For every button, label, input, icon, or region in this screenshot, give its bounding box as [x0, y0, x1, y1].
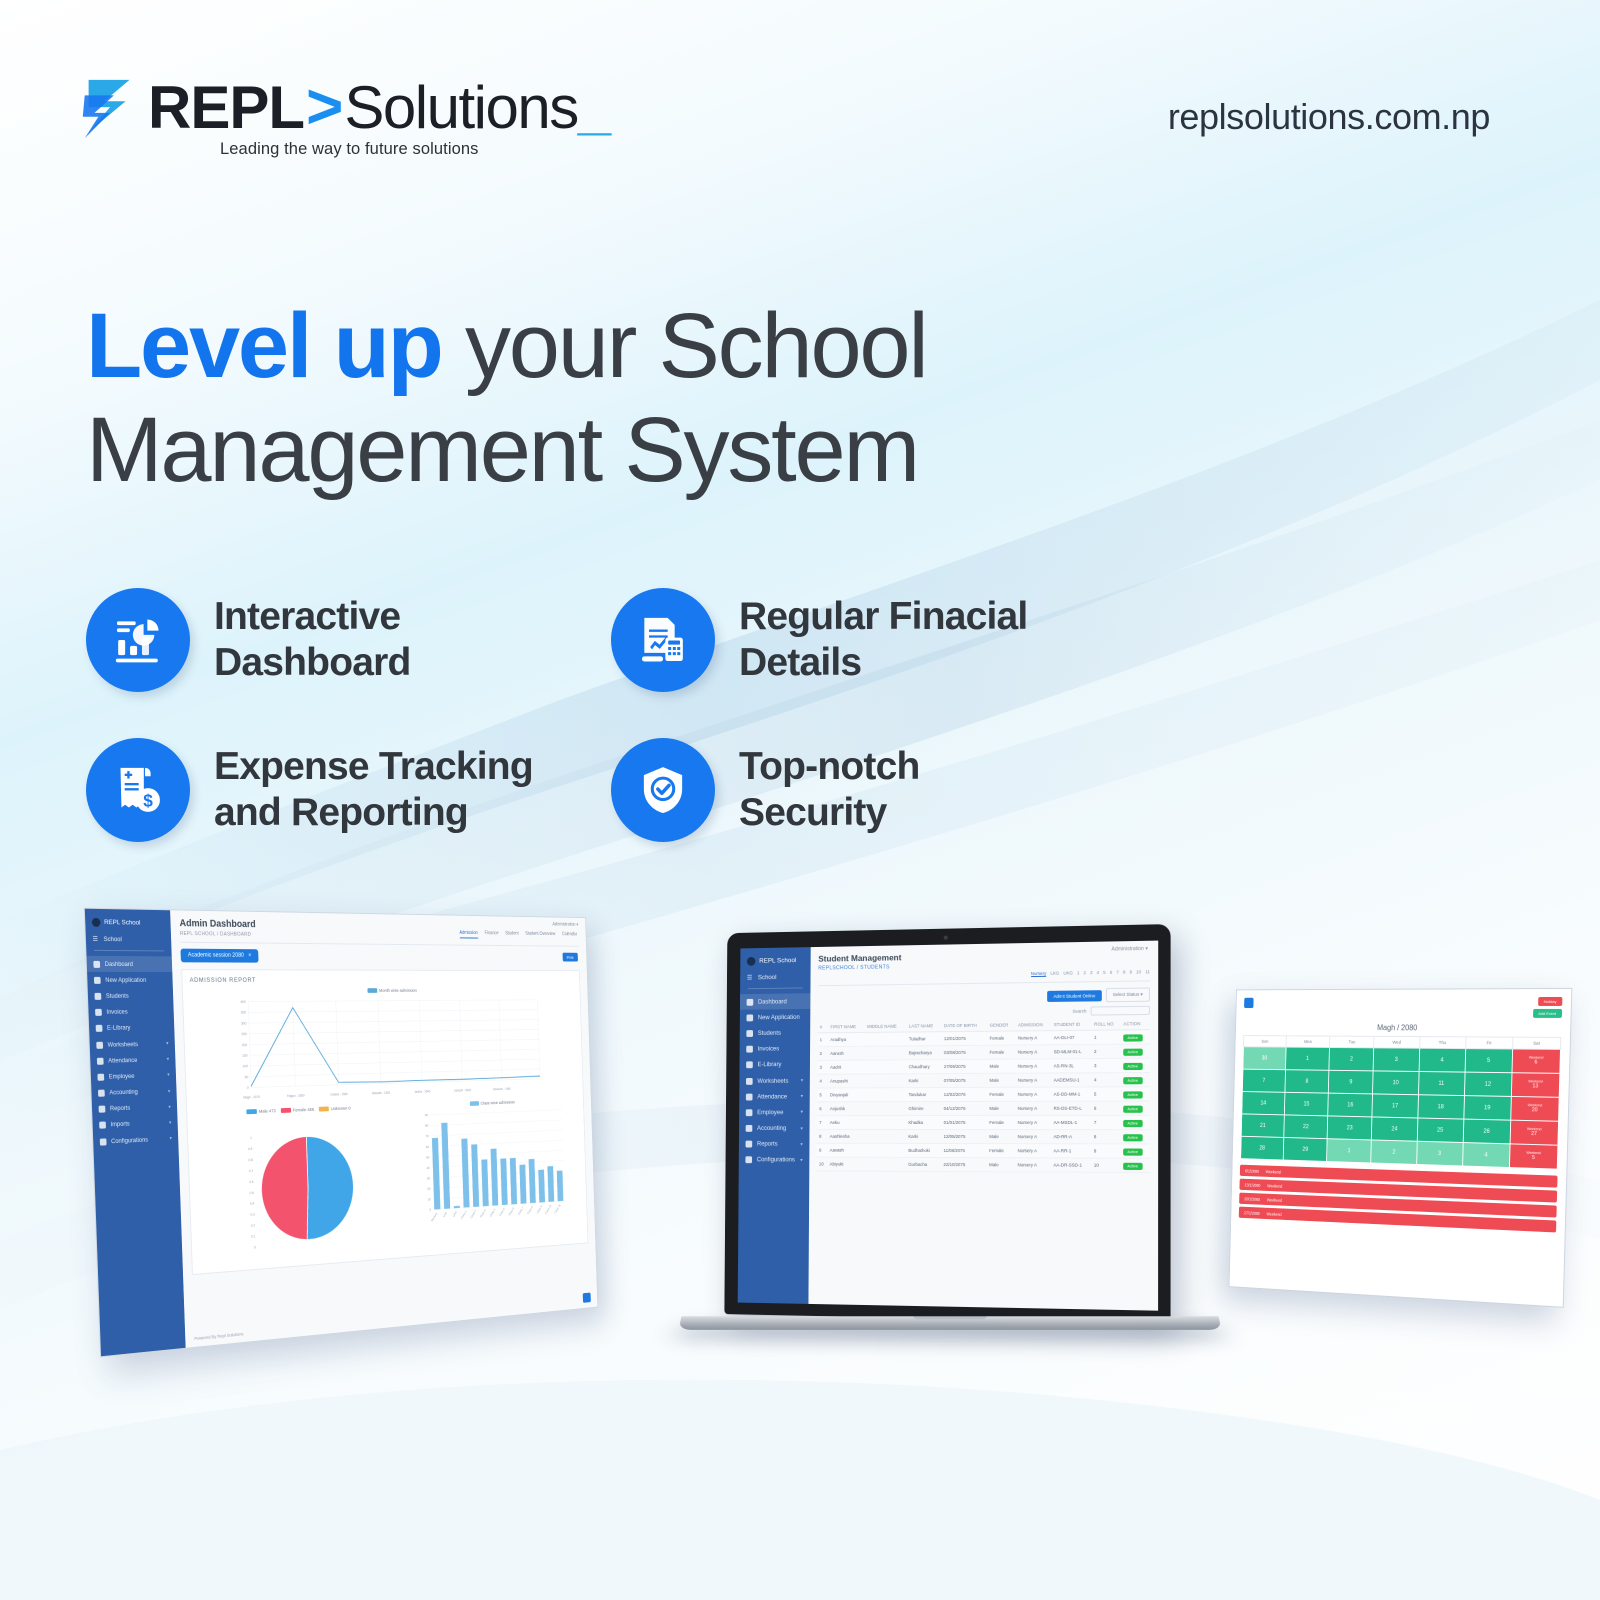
cell-roll-no: 7	[1092, 1115, 1121, 1129]
cell-first-name: Anupashi	[828, 1074, 865, 1088]
gender-pie-block: Male 473 Female 456 Unknown 0 10.90.80.7…	[194, 1104, 403, 1266]
user-menu[interactable]: Administration ▾	[1111, 946, 1147, 953]
calendar-day-cell[interactable]: 26	[1463, 1119, 1511, 1144]
svg-text:40: 40	[426, 1166, 429, 1170]
class-filter-ukg[interactable]: UKG	[1063, 970, 1073, 976]
sidebar-divider	[748, 987, 803, 989]
cell-student-id: AA-DR-SSD-1	[1051, 1158, 1091, 1172]
class-filter-row[interactable]: NurseryLKGUKG1234567891011	[818, 969, 1150, 980]
holiday-note: Weekend	[1513, 1055, 1560, 1060]
sidebar-item-label: Employee	[109, 1073, 135, 1081]
cell-student-id: AS-RN-3L	[1052, 1059, 1092, 1073]
cell-roll-no: 8	[1092, 1130, 1121, 1144]
cell-dob: 12/01/2075	[942, 1031, 988, 1045]
calendar-day-cell[interactable]: 3	[1416, 1141, 1463, 1166]
status-badge: Active	[1123, 1162, 1142, 1169]
status-badge: Active	[1123, 1105, 1142, 1112]
add-event-button[interactable]: Add Event	[1533, 1009, 1563, 1018]
calendar-day-cell[interactable]: 19	[1464, 1096, 1512, 1121]
feature-label: Top-notch Security	[739, 744, 920, 836]
column-header: DATE OF BIRTH	[942, 1020, 988, 1032]
table-body: 1 Aradhya Tuladhar 12/01/2075 Female Nur…	[817, 1030, 1150, 1173]
sidebar-item-dashboard[interactable]: Dashboard	[87, 956, 173, 972]
status-badge: Active	[1123, 1048, 1142, 1055]
calendar-day-cell[interactable]: 28	[1241, 1136, 1284, 1160]
app-footer: Powered By Repl Solutions	[194, 1331, 243, 1341]
calendar-weeks[interactable]: 3012345Weekend6789101112Weekend131415161…	[1241, 1047, 1561, 1169]
svg-text:Class 11: Class 11	[554, 1203, 562, 1214]
cell-middle-name	[865, 1116, 907, 1130]
tab-calendar[interactable]: Calendar	[562, 932, 577, 940]
laptop-device: REPL School ☰ School Dashboard New Appli…	[718, 928, 1188, 1358]
sidebar-item-configurations[interactable]: Configurations ▾	[739, 1152, 810, 1168]
table-row[interactable]: 6 Anjushk Ghimire 04/12/2076 Male Nurser…	[817, 1101, 1150, 1116]
menu-icon	[99, 1122, 106, 1129]
promo-poster: REPL>Solutions_ Leading the way to futur…	[0, 0, 1600, 1600]
status-badge: Active	[1123, 1119, 1142, 1126]
cell-dob: 27/09/2075	[942, 1059, 988, 1073]
cell-middle-name	[864, 1129, 906, 1143]
cell-roll-no: 10	[1092, 1158, 1121, 1172]
cell-first-name: Divyanjali	[828, 1088, 865, 1102]
cell-index: 8	[817, 1129, 828, 1143]
svg-text:0.8: 0.8	[248, 1157, 252, 1161]
sidebar-item-label: Accounting	[109, 1089, 138, 1097]
chevron-down-icon: ▾	[800, 1126, 802, 1132]
menu-icon	[100, 1138, 107, 1145]
student-app: REPL School ☰ School Dashboard New Appli…	[738, 941, 1159, 1311]
cell-last-name: Ghimire	[906, 1102, 941, 1116]
cell-index: 10	[817, 1157, 828, 1171]
class-filter-lkg[interactable]: LKG	[1050, 971, 1059, 977]
sidebar-item-attendance[interactable]: Attendance ▾	[739, 1089, 810, 1105]
cell-middle-name	[865, 1046, 907, 1060]
line-chart-legend: Month wise admission	[190, 988, 574, 995]
tab-admission[interactable]: Admission	[459, 930, 478, 938]
page-title: Level up your School Management System	[86, 295, 1136, 503]
status-badge: Active	[1123, 1062, 1142, 1069]
calendar-day-cell[interactable]: 10	[1373, 1071, 1419, 1095]
calendar-grid[interactable]: SunMonTueWedThuFriSat 3012345Weekend6789…	[1240, 1035, 1561, 1170]
expense-receipt-icon: $	[86, 738, 190, 842]
calendar-day-cell[interactable]: 24	[1372, 1117, 1418, 1141]
svg-text:LKG: LKG	[442, 1210, 448, 1217]
section-title: ADMISSION REPORT	[190, 977, 574, 984]
menu-icon	[97, 1057, 104, 1064]
cell-first-name: Aadrit	[828, 1060, 865, 1074]
cell-action[interactable]: Active	[1121, 1030, 1150, 1044]
logo-underscore: _	[578, 78, 610, 138]
cell-action[interactable]: Active	[1121, 1044, 1150, 1058]
calendar-day-cell[interactable]: 4	[1462, 1143, 1510, 1168]
svg-text:0.6: 0.6	[249, 1179, 253, 1183]
holiday-date: 6/1/2080	[1245, 1168, 1259, 1173]
sidebar-brand: REPL School	[740, 953, 810, 972]
svg-text:Class 7: Class 7	[517, 1205, 524, 1215]
svg-text:50: 50	[426, 1155, 429, 1159]
cell-action[interactable]: Active	[1121, 1058, 1150, 1072]
legend-label-unknown: Unknown 0	[331, 1106, 351, 1111]
class-filter-nursery[interactable]: Nursery	[1031, 971, 1046, 977]
cell-last-name: Tuladhar	[907, 1032, 942, 1046]
chevron-down-icon: ▾	[167, 1057, 169, 1063]
student-table: #FIRST NAMEMIDDLE NAMELAST NAMEDATE OF B…	[817, 1018, 1150, 1173]
table-row[interactable]: 5 Divyanjali Tandukar 12/02/2076 Female …	[817, 1087, 1150, 1102]
cell-dob: 01/01/2075	[942, 1115, 988, 1129]
chevron-down-icon: ▾	[801, 1110, 803, 1116]
svg-text:400: 400	[240, 1000, 246, 1004]
calendar-day-cell[interactable]: 2	[1371, 1140, 1417, 1165]
svg-text:100: 100	[242, 1064, 248, 1068]
class-filter-11[interactable]: 11	[1145, 969, 1150, 975]
search-input[interactable]	[1091, 1006, 1150, 1016]
cell-index: 3	[818, 1060, 829, 1074]
sidebar-item-students[interactable]: Students	[740, 1025, 811, 1042]
brand-dot-icon	[747, 957, 756, 966]
legend-swatch-unknown	[319, 1106, 329, 1111]
print-button[interactable]: Print	[562, 953, 578, 962]
chevron-down-icon: ▾	[167, 1072, 169, 1078]
cell-action[interactable]: Active	[1121, 1144, 1150, 1158]
sidebar-item-worksheets[interactable]: Worksheets ▾	[739, 1073, 810, 1089]
calendar-day-cell[interactable]: 15	[1284, 1092, 1328, 1116]
status-badge: Active	[1123, 1034, 1142, 1041]
sidebar-item-label: Worksheets	[108, 1041, 139, 1048]
svg-text:60: 60	[426, 1145, 429, 1149]
sidebar-item-reports[interactable]: Reports ▾	[739, 1136, 810, 1152]
calendar-day-cell[interactable]: 5	[1465, 1049, 1513, 1073]
dashboard-app: REPL School ☰ School Dashboard New Appli…	[85, 909, 598, 1357]
tab-finance[interactable]: Finance	[485, 931, 499, 939]
sidebar-item-e-library[interactable]: E-Library	[89, 1020, 175, 1037]
cell-student-id: AS-DD-MM-1	[1052, 1087, 1092, 1101]
calendar-day-cell[interactable]: 14	[1242, 1092, 1285, 1115]
sidebar-school-label: School	[758, 974, 777, 981]
sidebar-item-employee[interactable]: Employee ▾	[739, 1105, 810, 1121]
menu-icon	[746, 1141, 753, 1148]
cell-action[interactable]: Active	[1121, 1115, 1150, 1129]
calendar-actions[interactable]: Holiday Add Event	[1533, 997, 1563, 1018]
feature-label: Interactive Dashboard	[214, 594, 411, 686]
cell-first-name: Aashlesha	[828, 1129, 865, 1143]
sidebar-item-students[interactable]: Students	[88, 988, 174, 1004]
svg-text:0.3: 0.3	[250, 1212, 254, 1216]
calendar-day-cell[interactable]: 11	[1418, 1071, 1465, 1095]
cell-class: Nursery A	[1016, 1087, 1052, 1101]
calendar-day-cell[interactable]: 12	[1464, 1072, 1512, 1096]
cell-action[interactable]: Active	[1121, 1130, 1150, 1144]
class-filter-6[interactable]: 6	[1110, 970, 1113, 976]
column-header: FIRST NAME	[828, 1021, 865, 1033]
headline-rest: your School	[442, 295, 927, 397]
calendar-day-cell[interactable]: 4	[1419, 1048, 1466, 1072]
sidebar-item-new-application[interactable]: New Application	[740, 1009, 810, 1026]
table-row[interactable]: 4 Anupashi Karki 07/05/2075 Male Nursery…	[817, 1072, 1149, 1088]
sidebar-item-label: Invoices	[758, 1046, 780, 1053]
feature-label-line2: and Reporting	[214, 791, 468, 834]
svg-text:70: 70	[425, 1134, 428, 1138]
calendar-day-cell[interactable]: 3	[1373, 1048, 1419, 1072]
tab-student-overview[interactable]: Student Overview	[525, 931, 555, 939]
class-filter-2[interactable]: 2	[1083, 970, 1085, 976]
table-row[interactable]: 7 Aeku Khadka 01/01/2075 Female Nursery …	[817, 1115, 1150, 1129]
tab-student[interactable]: Student	[505, 931, 519, 939]
status-badge: Active	[1123, 1148, 1142, 1155]
cell-roll-no: 3	[1092, 1058, 1121, 1072]
cell-first-name: Aarush	[828, 1046, 865, 1060]
svg-text:Baisakh - 1800: Baisakh - 1800	[372, 1091, 390, 1095]
menu-icon	[97, 1074, 104, 1081]
user-menu[interactable]: Administration ▾	[552, 922, 578, 928]
calendar-day-cell[interactable]: 1	[1286, 1047, 1330, 1070]
class-filter-10[interactable]: 10	[1136, 969, 1141, 975]
cell-index: 6	[817, 1102, 828, 1116]
menu-icon	[96, 1025, 103, 1032]
cell-class: Nursery A	[1016, 1101, 1052, 1115]
table-row[interactable]: 10 Abiyukt Gurbacha 22/10/2075 Male Nurs…	[817, 1157, 1150, 1173]
svg-text:0.7: 0.7	[249, 1168, 253, 1172]
table-row[interactable]: 8 Aashlesha Karki 12/05/2075 Male Nurser…	[817, 1129, 1150, 1144]
cell-gender: Female	[987, 1087, 1015, 1101]
cell-first-name: Aradhya	[828, 1032, 865, 1046]
gender-pie-chart: 10.90.80.70.60.50.40.30.20.10	[195, 1111, 404, 1264]
cell-middle-name	[865, 1074, 907, 1088]
holiday-date: 20/1/2080	[1244, 1196, 1260, 1201]
cell-class: Nursery A	[1016, 1031, 1052, 1045]
svg-text:$: $	[143, 790, 153, 810]
cell-dob: 07/05/2075	[942, 1073, 988, 1087]
cell-index: 4	[817, 1074, 828, 1088]
legend-swatch-class	[470, 1101, 479, 1106]
calendar-day-cell[interactable]: 23	[1327, 1116, 1372, 1140]
cell-gender: Male	[987, 1158, 1015, 1172]
cell-gender: Male	[987, 1059, 1015, 1073]
sidebar-brand: REPL School	[85, 915, 171, 934]
calendar-day-cell[interactable]: Weekend13	[1511, 1073, 1560, 1098]
class-filter-8[interactable]: 8	[1123, 970, 1126, 976]
class-bar-chart: 0102030405060708090NurseryLKGUKGClass 1C…	[404, 1104, 582, 1248]
svg-text:1: 1	[250, 1135, 252, 1139]
feature-label-line1: Interactive	[214, 595, 400, 638]
cell-roll-no: 5	[1092, 1087, 1121, 1101]
help-badge-icon[interactable]	[583, 1293, 591, 1303]
legend-label: Month wise admission	[379, 989, 417, 994]
cell-middle-name	[864, 1157, 906, 1171]
legend-label-male: Male 473	[259, 1109, 276, 1114]
chevron-down-icon: ▾	[800, 1157, 802, 1163]
chevron-down-icon: ▾	[168, 1088, 170, 1094]
cell-action[interactable]: Active	[1121, 1087, 1150, 1101]
holiday-date: 27/1/2080	[1244, 1210, 1260, 1215]
calendar-day-cell[interactable]: 7	[1242, 1069, 1285, 1092]
sidebar-item-dashboard[interactable]: Dashboard	[740, 993, 810, 1010]
class-filter-5[interactable]: 5	[1103, 970, 1106, 976]
calendar-day-cell[interactable]: Weekend20	[1511, 1096, 1560, 1121]
svg-text:30: 30	[427, 1176, 430, 1180]
cell-index: 9	[817, 1143, 828, 1157]
svg-text:Class 6: Class 6	[508, 1206, 515, 1216]
user-menu-label: Administration	[552, 922, 575, 928]
sidebar-divider	[94, 950, 164, 952]
calendar-day-cell[interactable]: 17	[1372, 1094, 1418, 1118]
calendar-day-cell[interactable]: 18	[1417, 1095, 1464, 1119]
calendar-day-cell[interactable]: 16	[1328, 1093, 1373, 1117]
cell-action[interactable]: Active	[1121, 1072, 1150, 1086]
sidebar-item-label: New Application	[758, 1014, 800, 1021]
close-icon[interactable]: ×	[248, 953, 251, 959]
calendar-day-cell[interactable]: 1	[1327, 1139, 1372, 1163]
feature-list: Interactive Dashboard	[86, 565, 1126, 865]
class-filter-9[interactable]: 9	[1130, 969, 1133, 975]
cell-roll-no: 4	[1092, 1073, 1121, 1087]
calendar-day-cell[interactable]: 30	[1243, 1047, 1286, 1070]
calendar-icon[interactable]	[1244, 998, 1254, 1008]
calendar-day-cell[interactable]: Weekend27	[1510, 1120, 1559, 1145]
menu-icon	[95, 1009, 102, 1016]
sidebar-item-worksheets[interactable]: Worksheets ▾	[89, 1036, 175, 1053]
cell-gender: Male	[987, 1101, 1015, 1115]
cell-gender: Female	[987, 1115, 1015, 1129]
menu-icon	[98, 1090, 105, 1097]
svg-text:Nursery: Nursery	[430, 1211, 438, 1222]
calendar-day-cell[interactable]: 25	[1417, 1118, 1464, 1143]
feature-label-line1: Expense Tracking	[214, 745, 533, 788]
weekday-header: Sat	[1512, 1037, 1560, 1049]
monitor-dashboard: REPL School ☰ School Dashboard New Appli…	[84, 908, 598, 1358]
headline-line2: Management System	[86, 399, 918, 501]
brand-tagline: Leading the way to future solutions	[220, 140, 610, 159]
column-header: GENDER	[988, 1019, 1016, 1031]
cell-dob: 03/08/2075	[942, 1045, 988, 1059]
table-row[interactable]: 9 Aavash Budhathoki 11/08/2075 Female Nu…	[817, 1143, 1150, 1158]
svg-text:Class 5: Class 5	[498, 1207, 505, 1217]
cell-roll-no: 9	[1092, 1144, 1121, 1158]
class-filter-4[interactable]: 4	[1097, 970, 1100, 976]
chevron-down-icon: ▾	[169, 1120, 171, 1126]
legend-swatch-female	[281, 1108, 291, 1113]
logo-main: REPL	[148, 78, 304, 138]
menu-icon	[746, 1014, 753, 1021]
sidebar-item-label: Configurations	[111, 1136, 148, 1145]
hamburger-icon[interactable]: ☰	[92, 935, 98, 943]
sidebar-menu[interactable]: Dashboard New Application Students Invoi…	[87, 956, 179, 1150]
student-sidebar[interactable]: REPL School ☰ School Dashboard New Appli…	[738, 947, 811, 1304]
weekday-header: Sun	[1244, 1036, 1287, 1048]
class-filter-1[interactable]: 1	[1077, 970, 1079, 976]
sidebar-school[interactable]: ☰ School	[740, 971, 810, 989]
calendar-day-cell[interactable]: 9	[1329, 1070, 1374, 1094]
cell-index: 2	[818, 1047, 829, 1061]
svg-text:0: 0	[247, 1086, 249, 1090]
sidebar-item-configurations[interactable]: Configurations ▾	[93, 1131, 178, 1151]
class-filter-3[interactable]: 3	[1090, 970, 1093, 976]
menu-icon	[746, 1125, 753, 1132]
calendar-day-cell[interactable]: 8	[1285, 1070, 1329, 1093]
calendar-day-cell[interactable]: Weekend6	[1512, 1049, 1561, 1073]
sidebar-item-label: Employee	[757, 1109, 783, 1116]
svg-text:Class 4: Class 4	[489, 1207, 496, 1217]
holiday-button[interactable]: Holiday	[1538, 997, 1563, 1006]
status-select[interactable]: Select Status ▾	[1106, 987, 1150, 1002]
calendar-title: Magh / 2080	[1243, 1023, 1561, 1033]
cell-gender: Male	[987, 1073, 1015, 1087]
dashboard-sidebar[interactable]: REPL School ☰ School Dashboard New Appli…	[85, 909, 186, 1357]
sidebar-item-new-application[interactable]: New Application	[87, 972, 173, 988]
sidebar-menu[interactable]: Dashboard New Application Students Invoi…	[739, 993, 811, 1168]
svg-text:200: 200	[242, 1043, 248, 1047]
admission-report-card: ADMISSION REPORT Print Month wise admiss…	[181, 969, 588, 1274]
calendar-day-cell[interactable]: 21	[1241, 1114, 1284, 1138]
website-url: replsolutions.com.np	[1168, 96, 1490, 138]
cell-last-name: Karki	[906, 1129, 941, 1143]
calendar-day-cell[interactable]: Weekend5	[1509, 1144, 1558, 1169]
calendar-day-cell[interactable]: 2	[1329, 1047, 1374, 1070]
chevron-down-icon: ▾	[801, 1094, 803, 1100]
cell-middle-name	[864, 1143, 906, 1157]
feature-label-line1: Regular Finacial	[739, 595, 1027, 638]
sidebar-item-invoices[interactable]: Invoices	[740, 1041, 811, 1057]
sidebar-item-label: Reports	[110, 1105, 130, 1113]
cell-class: Nursery A	[1016, 1144, 1052, 1158]
svg-text:0.2: 0.2	[251, 1223, 255, 1227]
svg-text:10: 10	[427, 1197, 430, 1201]
svg-text:50: 50	[245, 1075, 249, 1079]
column-header: LAST NAME	[907, 1020, 942, 1032]
feature-label-line2: Details	[739, 641, 861, 684]
sidebar-school[interactable]: ☰ School	[86, 933, 172, 951]
svg-text:250: 250	[241, 1032, 247, 1036]
chevron-down-icon: ▾	[166, 1041, 168, 1047]
cell-student-id: AA-RR-1	[1051, 1144, 1091, 1158]
status-badge: Active	[1123, 1077, 1142, 1084]
cell-index: 7	[817, 1116, 828, 1130]
svg-text:Class 1: Class 1	[460, 1209, 467, 1219]
cell-last-name: Bajracharya	[907, 1046, 942, 1060]
sidebar-item-invoices[interactable]: Invoices	[88, 1004, 174, 1021]
weekday-header: Thu	[1419, 1037, 1465, 1049]
cell-action[interactable]: Active	[1121, 1158, 1150, 1172]
svg-text:Class 9: Class 9	[536, 1204, 543, 1214]
cell-dob: 22/10/2075	[941, 1158, 987, 1172]
feature-item-interactive-dashboard: Interactive Dashboard	[86, 565, 611, 715]
sidebar-item-accounting[interactable]: Accounting ▾	[739, 1121, 810, 1137]
admit-student-button[interactable]: Admit Student Online	[1047, 990, 1101, 1002]
class-filter-7[interactable]: 7	[1116, 970, 1119, 976]
sidebar-brand-label: REPL School	[104, 919, 140, 927]
svg-text:80: 80	[425, 1124, 428, 1128]
cell-roll-no: 6	[1092, 1101, 1121, 1115]
session-chip[interactable]: Academic session 2080 ×	[180, 949, 258, 963]
class-bar-block: Class wise admission 0102030405060708090…	[403, 1097, 581, 1250]
calendar-day-cell[interactable]: 22	[1284, 1115, 1328, 1139]
calendar-day-cell[interactable]: 29	[1283, 1137, 1327, 1161]
cell-gender: Male	[987, 1130, 1015, 1144]
sidebar-item-label: Students	[106, 993, 129, 1000]
menu-icon	[94, 993, 101, 1000]
holiday-note: Weekend	[1510, 1150, 1557, 1156]
menu-icon	[745, 1157, 752, 1164]
sidebar-item-label: Worksheets	[757, 1077, 788, 1084]
hamburger-icon[interactable]: ☰	[747, 974, 752, 982]
cell-class: Nursery A	[1016, 1115, 1052, 1129]
sidebar-item-e-library[interactable]: E-Library	[739, 1057, 810, 1073]
svg-text:0.1: 0.1	[251, 1234, 255, 1238]
svg-text:Class 8: Class 8	[526, 1205, 533, 1215]
brand-logo: REPL>Solutions_ Leading the way to futur…	[80, 70, 610, 159]
cell-action[interactable]: Active	[1121, 1101, 1150, 1115]
cell-class: Nursery A	[1016, 1045, 1052, 1059]
dashboard-tabs[interactable]: Admission Finance Student Student Overvi…	[459, 930, 577, 940]
